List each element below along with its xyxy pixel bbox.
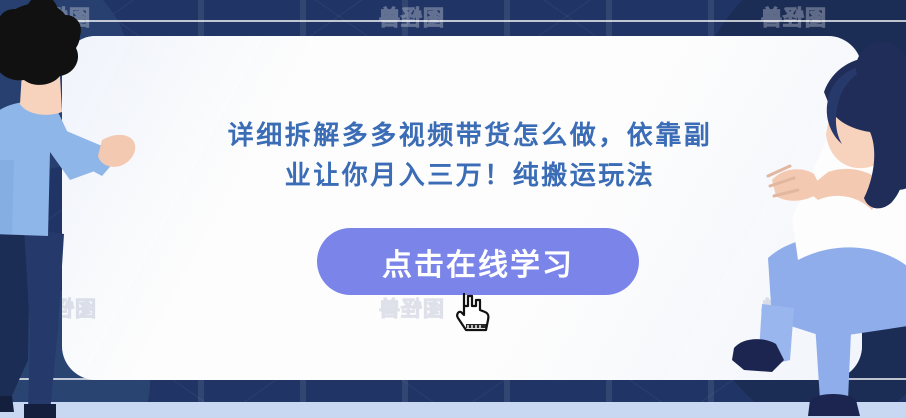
- watermark-mid-right: 图怪兽: [760, 293, 826, 323]
- page-title: 详细拆解多多视频带货怎么做，依靠副 业让你月入三万！纯搬运玩法: [170, 116, 770, 196]
- content-card: [62, 36, 862, 380]
- cta-button-label: 点击在线学习: [382, 240, 574, 284]
- watermark-mid-left: 图怪兽: [30, 293, 96, 323]
- footer-band: [0, 402, 906, 418]
- watermark-top-left: 图怪兽: [24, 2, 90, 32]
- watermark-top-center: 图怪兽: [378, 2, 444, 32]
- card-sheen-overlay: [62, 36, 862, 380]
- promo-banner: 图怪兽 图怪兽 图怪兽 图怪兽 图怪兽 图怪兽: [0, 0, 906, 418]
- click-to-learn-online-button[interactable]: 点击在线学习: [317, 228, 639, 295]
- watermark-mid-center: 图怪兽: [378, 293, 444, 323]
- watermark-top-right: 图怪兽: [760, 2, 826, 32]
